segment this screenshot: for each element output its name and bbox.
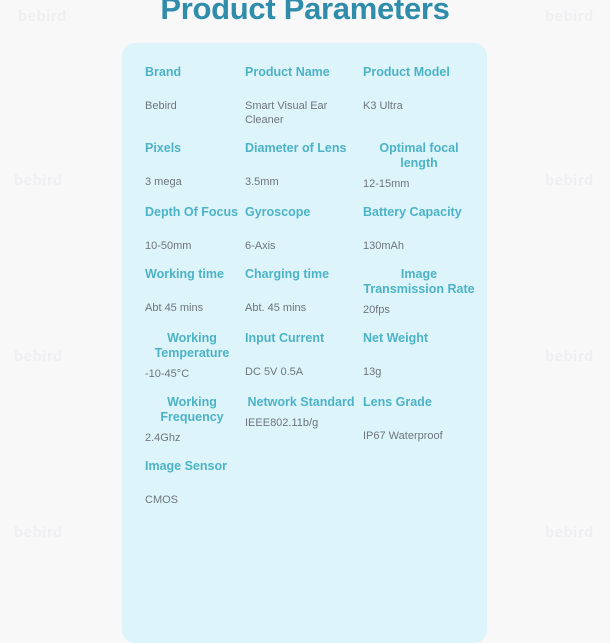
spec-label: Net Weight bbox=[363, 331, 475, 346]
spec-value: 10-50mm bbox=[145, 239, 239, 253]
spec-cell: Battery Capacity130mAh bbox=[363, 205, 481, 253]
spec-value: 20fps bbox=[363, 303, 475, 317]
spec-label: Gyroscope bbox=[245, 205, 357, 220]
spec-cell: Input CurrentDC 5V 0.5A bbox=[245, 331, 363, 381]
spec-cell bbox=[245, 459, 363, 507]
spec-row: Working Temperature-10-45°CInput Current… bbox=[122, 331, 487, 381]
spec-value: Smart Visual Ear Cleaner bbox=[245, 99, 357, 127]
watermark-text: bebird bbox=[545, 524, 594, 541]
spec-cell: Product NameSmart Visual Ear Cleaner bbox=[245, 65, 363, 127]
spec-row: Working Frequency2.4GhzNetwork StandardI… bbox=[122, 395, 487, 445]
spec-value: Abt. 45 mins bbox=[245, 301, 357, 315]
spec-row: Image SensorCMOS bbox=[122, 459, 487, 507]
spec-cell: Depth Of Focus10-50mm bbox=[145, 205, 245, 253]
spec-value: IP67 Waterproof bbox=[363, 429, 475, 443]
spec-table: BrandBebirdProduct NameSmart Visual Ear … bbox=[122, 65, 487, 507]
spec-value: CMOS bbox=[145, 493, 239, 507]
spec-value: 3 mega bbox=[145, 175, 239, 189]
spec-label: Working time bbox=[145, 267, 239, 282]
watermark-text: bebird bbox=[14, 348, 63, 365]
spec-cell: Working timeAbt 45 mins bbox=[145, 267, 245, 317]
spec-label: Diameter of Lens bbox=[245, 141, 357, 156]
spec-cell: Product ModelK3 Ultra bbox=[363, 65, 481, 127]
spec-value: 130mAh bbox=[363, 239, 475, 253]
watermark-text: bebird bbox=[545, 348, 594, 365]
spec-cell: Gyroscope6-Axis bbox=[245, 205, 363, 253]
spec-cell: Optimal focal length12-15mm bbox=[363, 141, 481, 191]
spec-value: Abt 45 mins bbox=[145, 301, 239, 315]
spec-cell: Image SensorCMOS bbox=[145, 459, 245, 507]
spec-label: Image Sensor bbox=[145, 459, 239, 474]
spec-label: Product Name bbox=[245, 65, 357, 80]
spec-value: -10-45°C bbox=[145, 367, 239, 381]
spec-value: 13g bbox=[363, 365, 475, 379]
spec-label: Working Frequency bbox=[145, 395, 239, 425]
spec-label: Working Temperature bbox=[145, 331, 239, 361]
spec-value: DC 5V 0.5A bbox=[245, 365, 357, 379]
spec-cell: Lens GradeIP67 Waterproof bbox=[363, 395, 481, 445]
spec-label: Depth Of Focus bbox=[145, 205, 239, 220]
spec-row: Working timeAbt 45 minsCharging timeAbt.… bbox=[122, 267, 487, 317]
watermark-text: bebird bbox=[14, 172, 63, 189]
spec-label: Brand bbox=[145, 65, 239, 80]
spec-row: Pixels3 megaDiameter of Lens3.5mmOptimal… bbox=[122, 141, 487, 191]
spec-cell: Net Weight13g bbox=[363, 331, 481, 381]
spec-value: 3.5mm bbox=[245, 175, 357, 189]
watermark-text: bebird bbox=[14, 524, 63, 541]
spec-label: Image Transmission Rate bbox=[363, 267, 475, 297]
spec-label: Product Model bbox=[363, 65, 475, 80]
spec-cell: Charging timeAbt. 45 mins bbox=[245, 267, 363, 317]
spec-value: 2.4Ghz bbox=[145, 431, 239, 445]
spec-cell: BrandBebird bbox=[145, 65, 245, 127]
spec-cell: Image Transmission Rate20fps bbox=[363, 267, 481, 317]
spec-cell: Diameter of Lens3.5mm bbox=[245, 141, 363, 191]
spec-value: IEEE802.11b/g bbox=[245, 416, 357, 430]
spec-row: BrandBebirdProduct NameSmart Visual Ear … bbox=[122, 65, 487, 127]
page-title: Product Parameters bbox=[0, 0, 610, 27]
spec-cell: Pixels3 mega bbox=[145, 141, 245, 191]
spec-label: Charging time bbox=[245, 267, 357, 282]
watermark-text: bebird bbox=[545, 172, 594, 189]
spec-label: Lens Grade bbox=[363, 395, 475, 410]
spec-value: 6-Axis bbox=[245, 239, 357, 253]
spec-value: Bebird bbox=[145, 99, 239, 113]
spec-label: Pixels bbox=[145, 141, 239, 156]
product-parameters-card: BrandBebirdProduct NameSmart Visual Ear … bbox=[122, 43, 487, 643]
spec-cell: Network StandardIEEE802.11b/g bbox=[245, 395, 363, 445]
spec-cell bbox=[363, 459, 481, 507]
spec-label: Optimal focal length bbox=[363, 141, 475, 171]
spec-cell: Working Frequency2.4Ghz bbox=[145, 395, 245, 445]
spec-label: Input Current bbox=[245, 331, 357, 346]
spec-label: Network Standard bbox=[245, 395, 357, 410]
spec-value: K3 Ultra bbox=[363, 99, 475, 113]
spec-row: Depth Of Focus10-50mmGyroscope6-AxisBatt… bbox=[122, 205, 487, 253]
spec-label: Battery Capacity bbox=[363, 205, 475, 220]
spec-cell: Working Temperature-10-45°C bbox=[145, 331, 245, 381]
spec-value: 12-15mm bbox=[363, 177, 475, 191]
